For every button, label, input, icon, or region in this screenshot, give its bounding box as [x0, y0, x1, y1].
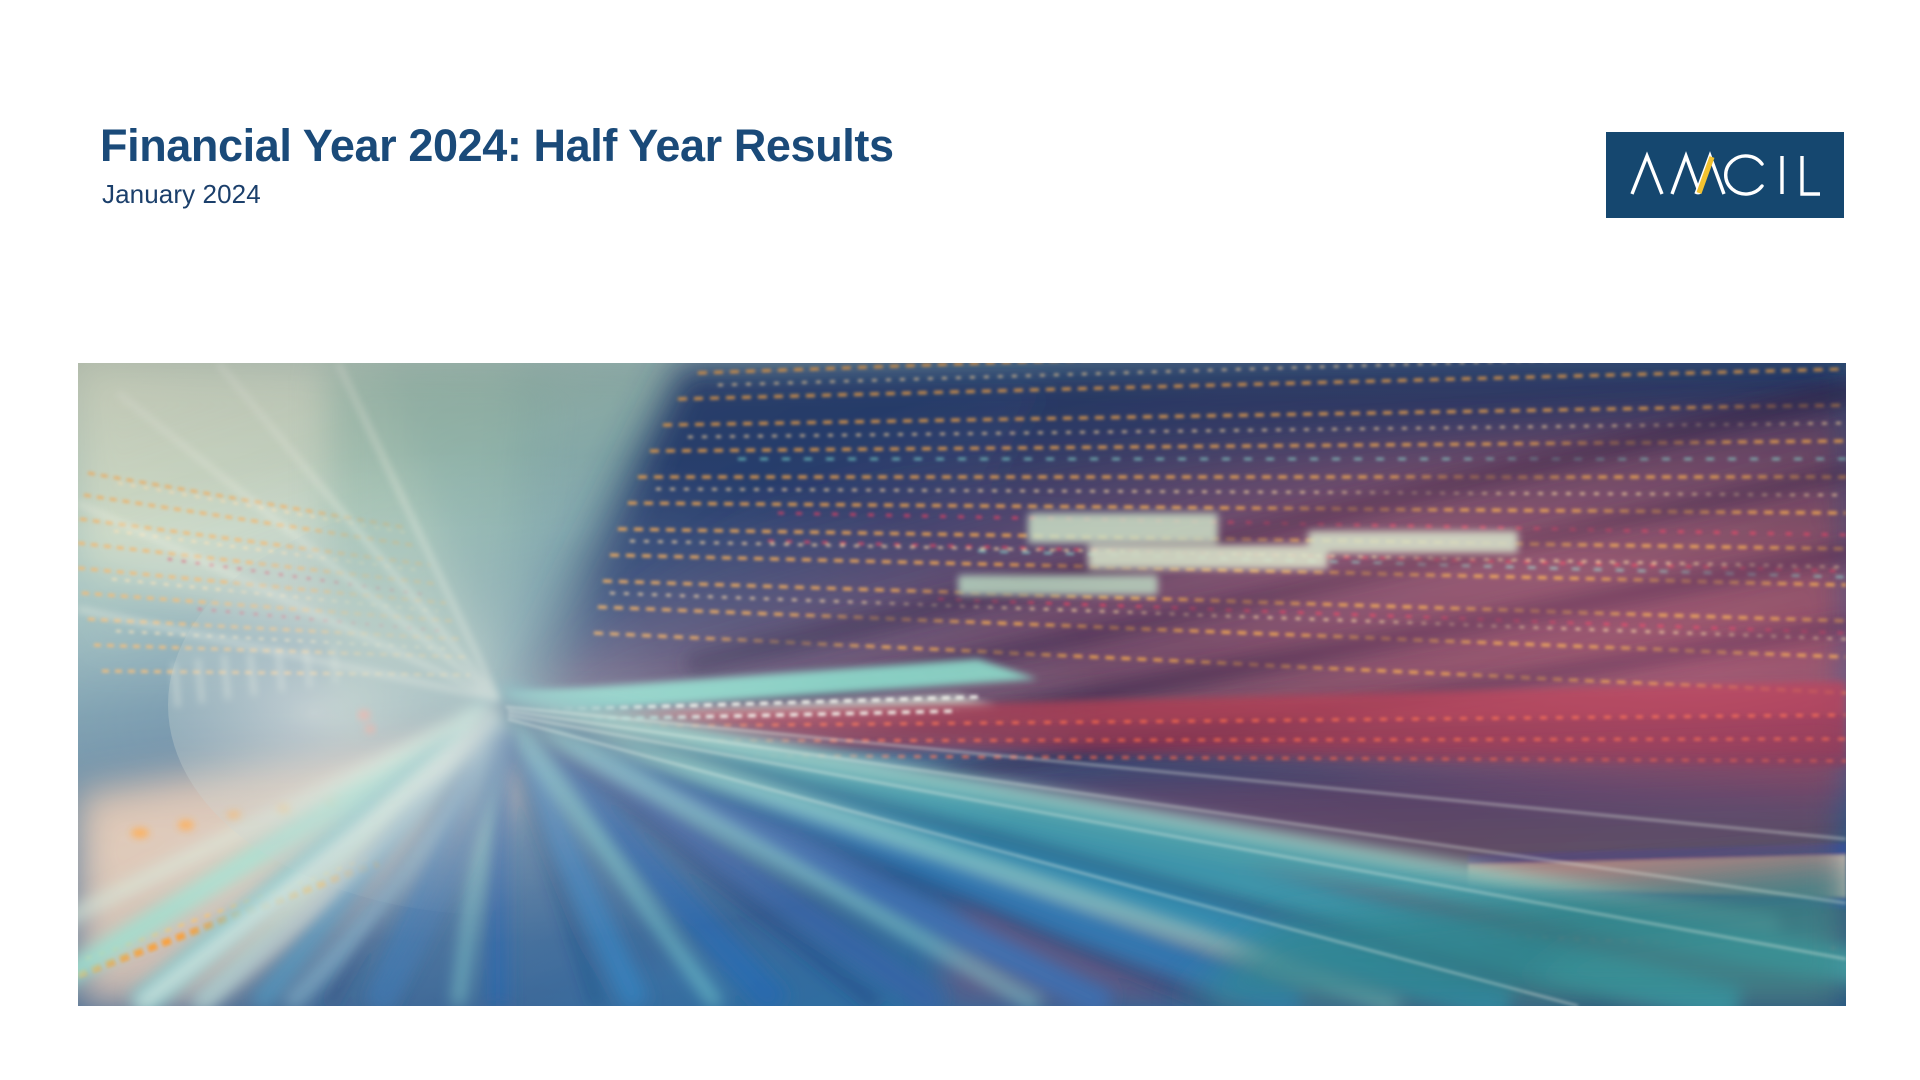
hero-image — [78, 363, 1846, 1006]
page-title: Financial Year 2024: Half Year Results — [100, 122, 894, 169]
hero-image-graphic — [78, 363, 1846, 1006]
amcil-logo-icon — [1606, 132, 1844, 218]
slide-canvas: Financial Year 2024: Half Year Results J… — [0, 0, 1920, 1080]
slide-header: Financial Year 2024: Half Year Results J… — [100, 122, 894, 210]
slide-subtitle: January 2024 — [102, 179, 894, 210]
amcil-logo — [1606, 132, 1844, 218]
